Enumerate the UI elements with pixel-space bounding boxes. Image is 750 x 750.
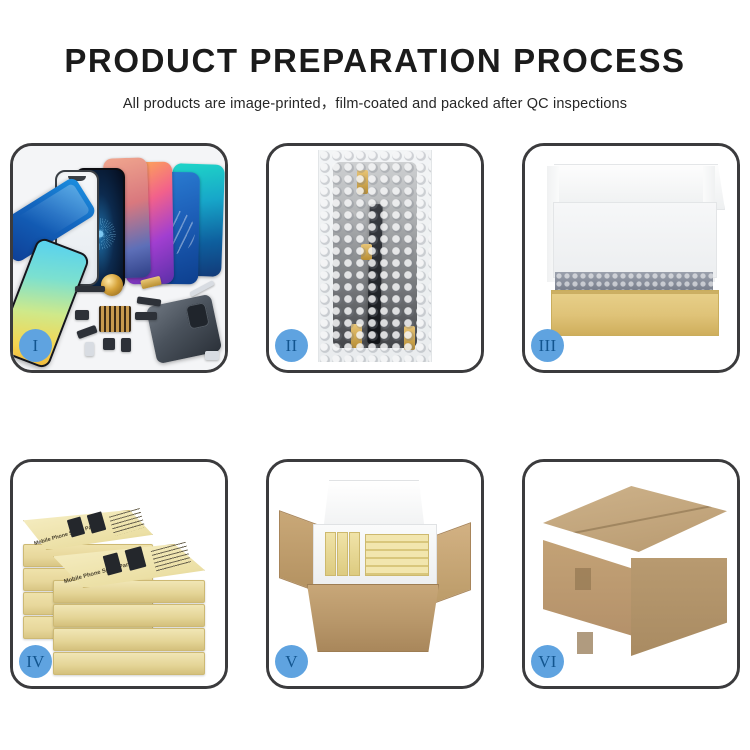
process-steps-grid: I II III [0, 143, 750, 683]
retail-box-stack: Mobile Phone Spare Parts Mobile Phone Sp… [19, 484, 221, 670]
part-connector-2 [135, 312, 157, 320]
yellow-box-2 [337, 532, 348, 576]
page-header: PRODUCT PREPARATION PROCESS All products… [0, 0, 750, 113]
box-slab-r2 [53, 604, 205, 627]
step-badge-6: VI [531, 645, 564, 678]
step-panel-4[interactable]: Mobile Phone Spare Parts Mobile Phone Sp… [10, 459, 228, 689]
gold-coil-part [101, 274, 123, 296]
box-slab-r3 [53, 628, 205, 651]
part-button [121, 338, 131, 352]
box-back-wall [553, 202, 717, 278]
step-panel-3[interactable]: III [522, 143, 740, 373]
part-connector-1 [75, 310, 89, 320]
page-title: PRODUCT PREPARATION PROCESS [0, 0, 750, 79]
step-image-stacked-retail-boxes: Mobile Phone Spare Parts Mobile Phone Sp… [13, 462, 225, 686]
page-subtitle: All products are image-printed，film-coat… [0, 79, 750, 113]
box-slab-r4 [53, 652, 205, 675]
step-image-foam-lined-carton: V [269, 462, 481, 686]
box-front-kraft-wall [551, 290, 719, 336]
step-badge-5: V [275, 645, 308, 678]
yellow-box-1 [325, 532, 336, 576]
step-image-assorted-phone-parts: I [13, 146, 225, 370]
step-image-sealed-shipping-carton: VI [525, 462, 737, 686]
part-strip-1 [75, 286, 105, 292]
shipping-carton-body [307, 584, 439, 652]
step-panel-2[interactable]: II [266, 143, 484, 373]
yellow-box-3 [349, 532, 360, 576]
step-badge-4: IV [19, 645, 52, 678]
box-slab-r1 [53, 580, 205, 603]
carton-tape-lower [577, 632, 593, 654]
step-panel-6[interactable]: VI [522, 459, 740, 689]
step-panel-5[interactable]: V [266, 459, 484, 689]
bubble-texture-highlight [319, 150, 431, 362]
step-image-open-white-inner-box: III [525, 146, 737, 370]
step-badge-2: II [275, 329, 308, 362]
yellow-box-flat-stack [365, 534, 429, 576]
step-badge-1: I [19, 329, 52, 362]
step-panel-1[interactable]: I [10, 143, 228, 373]
chip-grid-part [99, 306, 131, 332]
step-image-bubble-wrapped-part: II [269, 146, 481, 370]
step-badge-3: III [531, 329, 564, 362]
part-speaker [103, 338, 115, 350]
part-sim-tray [85, 342, 94, 356]
part-screws [205, 351, 219, 360]
carton-tape-upper [575, 568, 591, 590]
